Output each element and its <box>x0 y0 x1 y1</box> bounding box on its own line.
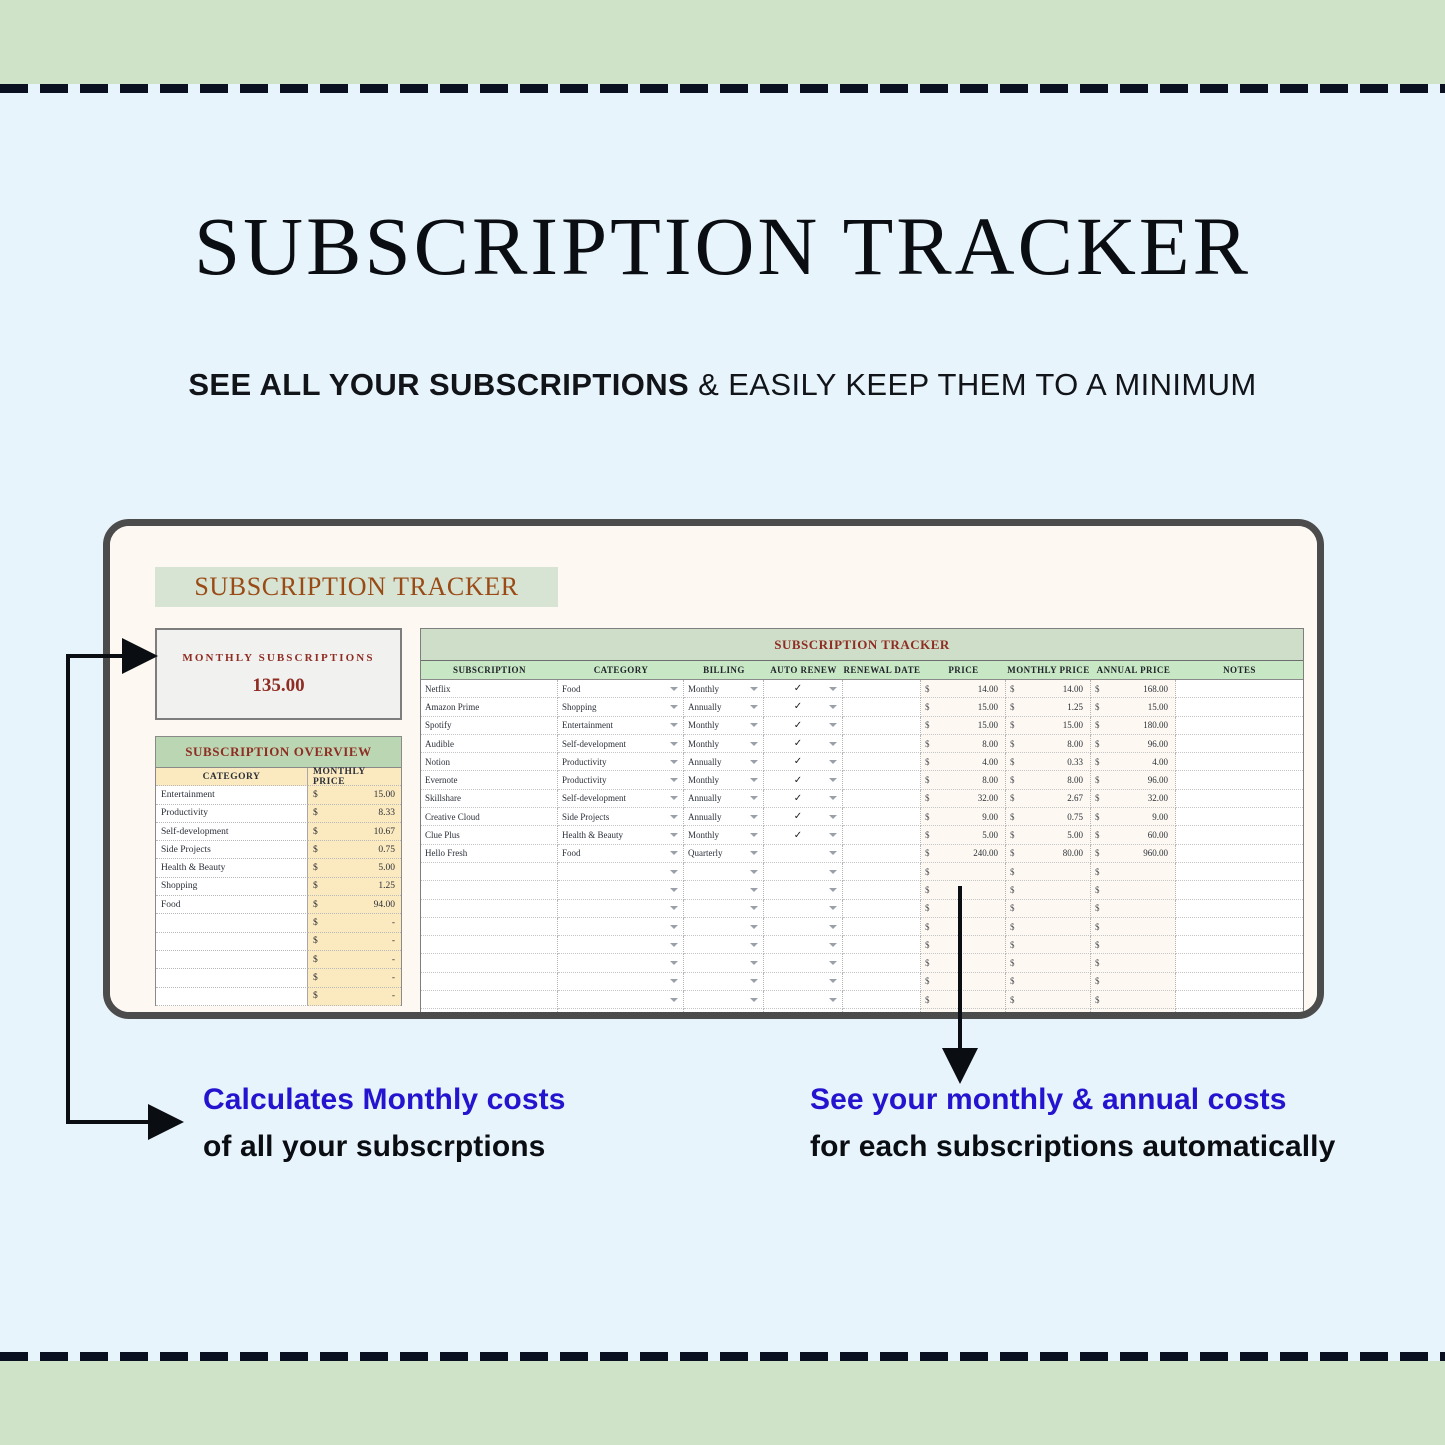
cell-annual-price[interactable]: $ <box>1091 918 1176 936</box>
chevron-down-icon[interactable] <box>750 778 758 782</box>
cell-category[interactable] <box>558 954 684 972</box>
cell-auto-renew[interactable] <box>764 1009 843 1012</box>
chevron-down-icon[interactable] <box>829 796 837 800</box>
cell-price[interactable]: $ <box>921 881 1006 899</box>
currency-symbol: $ <box>1010 702 1015 712</box>
cell-category[interactable]: Productivity <box>558 753 684 771</box>
tracker-row[interactable]: $$$ <box>421 881 1303 899</box>
cell-category[interactable]: Shopping <box>558 698 684 716</box>
overview-row[interactable]: $- <box>156 951 401 969</box>
cell-billing[interactable]: Quarterly <box>684 845 764 863</box>
cell-monthly-price[interactable]: $ <box>1006 954 1091 972</box>
overview-cell-monthly-price[interactable]: $0.75 <box>308 841 401 859</box>
cell-auto-renew[interactable]: ✓ <box>764 698 843 716</box>
cell-monthly-price[interactable]: $80.00 <box>1006 845 1091 863</box>
cell-billing[interactable]: Monthly <box>684 680 764 698</box>
overview-cell-category[interactable] <box>156 988 308 1006</box>
cell-annual-price[interactable]: $960.00 <box>1091 845 1176 863</box>
currency-symbol: $ <box>925 958 930 968</box>
kpi-label: MONTHLY SUBSCRIPTIONS <box>182 652 374 664</box>
cell-notes[interactable] <box>1176 991 1303 1009</box>
cell-renewal-date[interactable] <box>843 900 921 918</box>
cell-subscription[interactable] <box>421 973 558 991</box>
chevron-down-icon[interactable] <box>750 888 758 892</box>
cell-price[interactable]: $ <box>921 1009 1006 1012</box>
cell-annual-price[interactable]: $ <box>1091 991 1176 1009</box>
overview-cell-monthly-price[interactable]: $1.25 <box>308 878 401 896</box>
cell-annual-price[interactable]: $9.00 <box>1091 808 1176 826</box>
cell-renewal-date[interactable] <box>843 845 921 863</box>
currency-symbol: $ <box>313 955 318 965</box>
cell-notes[interactable] <box>1176 698 1303 716</box>
chevron-down-icon[interactable] <box>829 760 837 764</box>
currency-symbol: $ <box>1095 976 1100 986</box>
cell-auto-renew[interactable] <box>764 845 843 863</box>
cell-monthly-price[interactable]: $ <box>1006 918 1091 936</box>
cell-notes[interactable] <box>1176 900 1303 918</box>
chevron-down-icon[interactable] <box>670 760 678 764</box>
chevron-down-icon[interactable] <box>750 723 758 727</box>
chevron-down-icon[interactable] <box>670 705 678 709</box>
overview-cell-category[interactable] <box>156 969 308 987</box>
cell-price[interactable]: $ <box>921 973 1006 991</box>
tracker-row[interactable]: $$$ <box>421 863 1303 881</box>
cell-category-value: Food <box>562 848 581 858</box>
tracker-row[interactable]: $$$ <box>421 1009 1303 1012</box>
chevron-down-icon[interactable] <box>750 998 758 1002</box>
cell-auto-renew[interactable]: ✓ <box>764 771 843 789</box>
chevron-down-icon[interactable] <box>750 705 758 709</box>
cell-category[interactable]: Side Projects <box>558 808 684 826</box>
chevron-down-icon[interactable] <box>829 851 837 855</box>
cell-auto-renew[interactable] <box>764 954 843 972</box>
monthly-subscriptions-card: MONTHLY SUBSCRIPTIONS 135.00 <box>155 628 402 720</box>
cell-notes[interactable] <box>1176 1009 1303 1012</box>
cell-subscription[interactable]: Clue Plus <box>421 826 558 844</box>
overview-cell-category[interactable]: Side Projects <box>156 841 308 859</box>
cell-subscription[interactable] <box>421 936 558 954</box>
cell-monthly-price[interactable]: $8.00 <box>1006 735 1091 753</box>
cell-billing[interactable]: Monthly <box>684 735 764 753</box>
cell-auto-renew[interactable]: ✓ <box>764 735 843 753</box>
cell-category[interactable]: Productivity <box>558 771 684 789</box>
chevron-down-icon[interactable] <box>670 979 678 983</box>
overview-cell-category[interactable]: Productivity <box>156 805 308 823</box>
chevron-down-icon[interactable] <box>670 961 678 965</box>
cell-subscription[interactable]: Hello Fresh <box>421 845 558 863</box>
chevron-down-icon[interactable] <box>829 778 837 782</box>
chevron-down-icon[interactable] <box>670 742 678 746</box>
chevron-down-icon[interactable] <box>750 833 758 837</box>
cell-auto-renew[interactable]: ✓ <box>764 808 843 826</box>
cell-billing[interactable] <box>684 900 764 918</box>
overview-cell-monthly-price[interactable]: $- <box>308 933 401 951</box>
tracker-row[interactable]: $$$ <box>421 991 1303 1009</box>
overview-cell-monthly-price[interactable]: $- <box>308 969 401 987</box>
chevron-down-icon[interactable] <box>829 979 837 983</box>
cell-monthly-price[interactable]: $1.25 <box>1006 698 1091 716</box>
cell-billing[interactable]: Annually <box>684 808 764 826</box>
chevron-down-icon[interactable] <box>829 870 837 874</box>
currency-symbol: $ <box>925 757 930 767</box>
cell-subscription[interactable] <box>421 881 558 899</box>
overview-row[interactable]: $- <box>156 933 401 951</box>
cell-monthly-price[interactable]: $14.00 <box>1006 680 1091 698</box>
cell-monthly-price[interactable]: $ <box>1006 900 1091 918</box>
cell-price[interactable]: $ <box>921 900 1006 918</box>
chevron-down-icon[interactable] <box>750 851 758 855</box>
cell-subscription[interactable]: Evernote <box>421 771 558 789</box>
cell-notes[interactable] <box>1176 790 1303 808</box>
cell-monthly-price[interactable]: $ <box>1006 1009 1091 1012</box>
cell-renewal-date[interactable] <box>843 698 921 716</box>
cell-monthly-price[interactable]: $ <box>1006 973 1091 991</box>
overview-row[interactable]: Health & Beauty$5.00 <box>156 859 401 877</box>
overview-row[interactable]: $- <box>156 988 401 1006</box>
cell-auto-renew[interactable] <box>764 900 843 918</box>
overview-cell-monthly-price[interactable]: $- <box>308 988 401 1006</box>
overview-cell-category[interactable] <box>156 914 308 932</box>
cell-price[interactable]: $32.00 <box>921 790 1006 808</box>
cell-monthly-price[interactable]: $15.00 <box>1006 717 1091 735</box>
cell-subscription[interactable]: Skillshare <box>421 790 558 808</box>
cell-renewal-date[interactable] <box>843 863 921 881</box>
cell-auto-renew[interactable]: ✓ <box>764 790 843 808</box>
cell-auto-renew[interactable]: ✓ <box>764 826 843 844</box>
cell-notes[interactable] <box>1176 753 1303 771</box>
cell-notes[interactable] <box>1176 973 1303 991</box>
chevron-down-icon[interactable] <box>750 906 758 910</box>
chevron-down-icon[interactable] <box>750 815 758 819</box>
tracker-row[interactable]: Hello FreshFoodQuarterly$240.00$80.00$96… <box>421 845 1303 863</box>
cell-notes[interactable] <box>1176 717 1303 735</box>
overview-row[interactable]: Productivity$8.33 <box>156 805 401 823</box>
overview-cell-category[interactable] <box>156 951 308 969</box>
currency-symbol: $ <box>925 830 930 840</box>
cell-price[interactable]: $8.00 <box>921 735 1006 753</box>
chevron-down-icon[interactable] <box>829 888 837 892</box>
cell-price[interactable]: $ <box>921 954 1006 972</box>
cell-monthly-price[interactable]: $ <box>1006 863 1091 881</box>
cell-subscription[interactable] <box>421 918 558 936</box>
tracker-row[interactable]: SpotifyEntertainmentMonthly✓$15.00$15.00… <box>421 717 1303 735</box>
cell-notes[interactable] <box>1176 680 1303 698</box>
cell-notes[interactable] <box>1176 826 1303 844</box>
cell-category[interactable] <box>558 863 684 881</box>
cell-price[interactable]: $15.00 <box>921 717 1006 735</box>
cell-auto-renew[interactable] <box>764 936 843 954</box>
cell-price[interactable]: $5.00 <box>921 826 1006 844</box>
chevron-down-icon[interactable] <box>750 943 758 947</box>
cell-billing[interactable] <box>684 881 764 899</box>
cell-subscription[interactable]: Creative Cloud <box>421 808 558 826</box>
cell-billing[interactable]: Monthly <box>684 771 764 789</box>
chevron-down-icon[interactable] <box>750 961 758 965</box>
cell-subscription[interactable] <box>421 991 558 1009</box>
chevron-down-icon[interactable] <box>670 943 678 947</box>
overview-row[interactable]: Food$94.00 <box>156 896 401 914</box>
overview-cell-category[interactable]: Health & Beauty <box>156 859 308 877</box>
chevron-down-icon[interactable] <box>829 742 837 746</box>
overview-cell-monthly-price[interactable]: $94.00 <box>308 896 401 914</box>
chevron-down-icon[interactable] <box>829 961 837 965</box>
cell-monthly-price[interactable]: $ <box>1006 991 1091 1009</box>
chevron-down-icon[interactable] <box>670 998 678 1002</box>
amount: 5.00 <box>1067 830 1083 840</box>
tracker-row[interactable]: AudibleSelf-developmentMonthly✓$8.00$8.0… <box>421 735 1303 753</box>
cell-price[interactable]: $ <box>921 936 1006 954</box>
cell-billing[interactable] <box>684 918 764 936</box>
cell-category[interactable]: Self-development <box>558 735 684 753</box>
tracker-row[interactable]: EvernoteProductivityMonthly✓$8.00$8.00$9… <box>421 771 1303 789</box>
cell-price[interactable]: $8.00 <box>921 771 1006 789</box>
amount: 15.00 <box>978 720 998 730</box>
cell-category[interactable] <box>558 991 684 1009</box>
cell-monthly-price[interactable]: $5.00 <box>1006 826 1091 844</box>
chevron-down-icon[interactable] <box>670 723 678 727</box>
chevron-down-icon[interactable] <box>829 687 837 691</box>
chevron-down-icon[interactable] <box>750 742 758 746</box>
cell-subscription[interactable]: Netflix <box>421 680 558 698</box>
kpi-value: 135.00 <box>252 675 304 697</box>
cell-billing[interactable]: Annually <box>684 698 764 716</box>
cell-renewal-date[interactable] <box>843 826 921 844</box>
chevron-down-icon[interactable] <box>750 796 758 800</box>
overview-cell-category[interactable]: Shopping <box>156 878 308 896</box>
cell-renewal-date[interactable] <box>843 973 921 991</box>
cell-auto-renew[interactable] <box>764 863 843 881</box>
cell-renewal-date[interactable] <box>843 717 921 735</box>
cell-subscription[interactable] <box>421 1009 558 1012</box>
cell-annual-price[interactable]: $96.00 <box>1091 771 1176 789</box>
cell-annual-price[interactable]: $60.00 <box>1091 826 1176 844</box>
tracker-row[interactable]: Amazon PrimeShoppingAnnually✓$15.00$1.25… <box>421 698 1303 716</box>
cell-renewal-date[interactable] <box>843 881 921 899</box>
cell-renewal-date[interactable] <box>843 918 921 936</box>
cell-renewal-date[interactable] <box>843 680 921 698</box>
cell-category[interactable]: Health & Beauty <box>558 826 684 844</box>
chevron-down-icon[interactable] <box>750 870 758 874</box>
chevron-down-icon[interactable] <box>750 925 758 929</box>
overview-cell-category[interactable]: Food <box>156 896 308 914</box>
chevron-down-icon[interactable] <box>750 687 758 691</box>
cell-renewal-date[interactable] <box>843 771 921 789</box>
cell-monthly-price[interactable]: $ <box>1006 881 1091 899</box>
cell-auto-renew[interactable] <box>764 881 843 899</box>
cell-annual-price[interactable]: $4.00 <box>1091 753 1176 771</box>
tracker-row[interactable]: $$$ <box>421 936 1303 954</box>
chevron-down-icon[interactable] <box>829 723 837 727</box>
cell-billing[interactable] <box>684 936 764 954</box>
cell-notes[interactable] <box>1176 735 1303 753</box>
overview-cell-monthly-price[interactable]: $10.67 <box>308 823 401 841</box>
cell-subscription[interactable]: Audible <box>421 735 558 753</box>
tracker-row[interactable]: $$$ <box>421 900 1303 918</box>
cell-category[interactable] <box>558 900 684 918</box>
cell-notes[interactable] <box>1176 936 1303 954</box>
cell-annual-price[interactable]: $ <box>1091 863 1176 881</box>
cell-price[interactable]: $ <box>921 863 1006 881</box>
cell-notes[interactable] <box>1176 881 1303 899</box>
overview-row[interactable]: Side Projects$0.75 <box>156 841 401 859</box>
cell-annual-price[interactable]: $ <box>1091 973 1176 991</box>
cell-auto-renew[interactable]: ✓ <box>764 717 843 735</box>
cell-auto-renew[interactable]: ✓ <box>764 753 843 771</box>
currency-symbol: $ <box>1010 830 1015 840</box>
cell-annual-price[interactable]: $ <box>1091 900 1176 918</box>
chevron-down-icon[interactable] <box>670 796 678 800</box>
cell-category[interactable]: Food <box>558 680 684 698</box>
overview-cell-monthly-price[interactable]: $15.00 <box>308 786 401 804</box>
cell-price[interactable]: $9.00 <box>921 808 1006 826</box>
cell-subscription[interactable] <box>421 900 558 918</box>
cell-auto-renew[interactable]: ✓ <box>764 680 843 698</box>
cell-renewal-date[interactable] <box>843 954 921 972</box>
cell-billing[interactable]: Monthly <box>684 717 764 735</box>
cell-billing[interactable] <box>684 991 764 1009</box>
cell-billing[interactable] <box>684 1009 764 1012</box>
overview-row[interactable]: Self-development$10.67 <box>156 823 401 841</box>
chevron-down-icon[interactable] <box>750 979 758 983</box>
overview-cell-category[interactable]: Self-development <box>156 823 308 841</box>
amount: 32.00 <box>978 793 998 803</box>
overview-cell-monthly-price[interactable]: $8.33 <box>308 805 401 823</box>
chevron-down-icon[interactable] <box>670 778 678 782</box>
cell-billing[interactable] <box>684 863 764 881</box>
subtitle-strong: SEE ALL YOUR SUBSCRIPTIONS <box>188 367 689 402</box>
cell-annual-price[interactable]: $ <box>1091 881 1176 899</box>
cell-annual-price[interactable]: $96.00 <box>1091 735 1176 753</box>
cell-category[interactable] <box>558 973 684 991</box>
overview-row[interactable]: $- <box>156 914 401 932</box>
cell-renewal-date[interactable] <box>843 1009 921 1012</box>
cell-subscription[interactable]: Spotify <box>421 717 558 735</box>
cell-auto-renew[interactable] <box>764 991 843 1009</box>
chevron-down-icon[interactable] <box>670 687 678 691</box>
cell-price[interactable]: $4.00 <box>921 753 1006 771</box>
overview-cell-monthly-price[interactable]: $- <box>308 951 401 969</box>
cell-annual-price[interactable]: $ <box>1091 954 1176 972</box>
overview-cell-monthly-price[interactable]: $- <box>308 914 401 932</box>
currency-symbol: $ <box>1095 739 1100 749</box>
cell-category[interactable] <box>558 1009 684 1012</box>
cell-category[interactable] <box>558 918 684 936</box>
tracker-row[interactable]: Clue PlusHealth & BeautyMonthly✓$5.00$5.… <box>421 826 1303 844</box>
tracker-row[interactable]: NotionProductivityAnnually✓$4.00$0.33$4.… <box>421 753 1303 771</box>
cell-notes[interactable] <box>1176 845 1303 863</box>
currency-symbol: $ <box>1095 757 1100 767</box>
cell-notes[interactable] <box>1176 954 1303 972</box>
cell-renewal-date[interactable] <box>843 753 921 771</box>
chevron-down-icon[interactable] <box>670 870 678 874</box>
cell-monthly-price[interactable]: $0.75 <box>1006 808 1091 826</box>
cell-subscription[interactable]: Notion <box>421 753 558 771</box>
cell-auto-renew[interactable] <box>764 918 843 936</box>
cell-price[interactable]: $ <box>921 991 1006 1009</box>
cell-renewal-date[interactable] <box>843 808 921 826</box>
cell-notes[interactable] <box>1176 863 1303 881</box>
overview-row[interactable]: Shopping$1.25 <box>156 878 401 896</box>
cell-billing[interactable]: Annually <box>684 753 764 771</box>
cell-renewal-date[interactable] <box>843 936 921 954</box>
chevron-down-icon[interactable] <box>829 925 837 929</box>
overview-row[interactable]: $- <box>156 969 401 987</box>
tracker-row[interactable]: NetflixFoodMonthly✓$14.00$14.00$168.00 <box>421 680 1303 698</box>
cell-category[interactable] <box>558 936 684 954</box>
cell-renewal-date[interactable] <box>843 991 921 1009</box>
cell-subscription[interactable]: Amazon Prime <box>421 698 558 716</box>
cell-renewal-date[interactable] <box>843 735 921 753</box>
chevron-down-icon[interactable] <box>670 851 678 855</box>
overview-col-category: CATEGORY <box>156 768 308 786</box>
overview-cell-monthly-price[interactable]: $5.00 <box>308 859 401 877</box>
cell-price[interactable]: $15.00 <box>921 698 1006 716</box>
cell-monthly-price[interactable]: $0.33 <box>1006 753 1091 771</box>
cell-price[interactable]: $ <box>921 918 1006 936</box>
cell-monthly-price[interactable]: $ <box>1006 936 1091 954</box>
chevron-down-icon[interactable] <box>670 833 678 837</box>
cell-notes[interactable] <box>1176 808 1303 826</box>
cell-notes[interactable] <box>1176 771 1303 789</box>
cell-billing[interactable]: Annually <box>684 790 764 808</box>
currency-symbol: $ <box>925 903 930 913</box>
chevron-down-icon[interactable] <box>829 705 837 709</box>
chevron-down-icon[interactable] <box>750 760 758 764</box>
overview-col-monthly-price: MONTHLY PRICE <box>308 768 401 786</box>
chevron-down-icon[interactable] <box>670 925 678 929</box>
tracker-row[interactable]: Creative CloudSide ProjectsAnnually✓$9.0… <box>421 808 1303 826</box>
cell-category[interactable]: Food <box>558 845 684 863</box>
cell-subscription[interactable] <box>421 954 558 972</box>
tracker-row[interactable]: $$$ <box>421 954 1303 972</box>
chevron-down-icon[interactable] <box>670 888 678 892</box>
cell-category[interactable]: Entertainment <box>558 717 684 735</box>
cell-annual-price[interactable]: $32.00 <box>1091 790 1176 808</box>
cell-auto-renew[interactable] <box>764 973 843 991</box>
cell-price[interactable]: $240.00 <box>921 845 1006 863</box>
tracker-row[interactable]: $$$ <box>421 973 1303 991</box>
cell-billing[interactable]: Monthly <box>684 826 764 844</box>
chevron-down-icon[interactable] <box>829 815 837 819</box>
cell-annual-price[interactable]: $168.00 <box>1091 680 1176 698</box>
chevron-down-icon[interactable] <box>670 906 678 910</box>
cell-annual-price[interactable]: $15.00 <box>1091 698 1176 716</box>
cell-category[interactable] <box>558 881 684 899</box>
tracker-row[interactable]: SkillshareSelf-developmentAnnually✓$32.0… <box>421 790 1303 808</box>
cell-price[interactable]: $14.00 <box>921 680 1006 698</box>
overview-row[interactable]: Entertainment$15.00 <box>156 786 401 804</box>
cell-annual-price[interactable]: $ <box>1091 1009 1176 1012</box>
chevron-down-icon[interactable] <box>829 943 837 947</box>
cell-annual-price[interactable]: $180.00 <box>1091 717 1176 735</box>
chevron-down-icon[interactable] <box>829 998 837 1002</box>
tracker-row[interactable]: $$$ <box>421 918 1303 936</box>
cell-category[interactable]: Self-development <box>558 790 684 808</box>
cell-billing[interactable] <box>684 973 764 991</box>
overview-cell-category[interactable] <box>156 933 308 951</box>
cell-renewal-date[interactable] <box>843 790 921 808</box>
chevron-down-icon[interactable] <box>829 833 837 837</box>
cell-annual-price[interactable]: $ <box>1091 936 1176 954</box>
cell-subscription[interactable] <box>421 863 558 881</box>
chevron-down-icon[interactable] <box>829 906 837 910</box>
cell-billing[interactable] <box>684 954 764 972</box>
cell-notes[interactable] <box>1176 918 1303 936</box>
chevron-down-icon[interactable] <box>670 815 678 819</box>
cell-monthly-price[interactable]: $2.67 <box>1006 790 1091 808</box>
cell-monthly-price[interactable]: $8.00 <box>1006 771 1091 789</box>
overview-cell-category[interactable]: Entertainment <box>156 786 308 804</box>
